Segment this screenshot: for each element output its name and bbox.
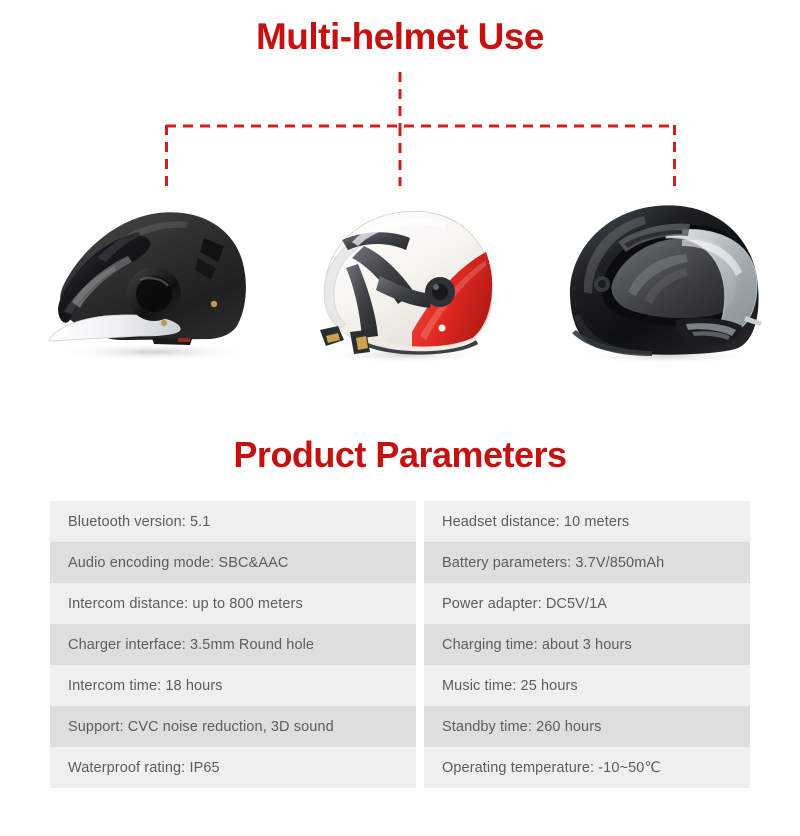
- page-title-multi-helmet: Multi-helmet Use: [0, 18, 800, 55]
- param-cell-left: Intercom time: 18 hours: [50, 665, 416, 706]
- table-row: Intercom time: 18 hours Music time: 25 h…: [50, 665, 750, 706]
- param-cell-left: Audio encoding mode: SBC&AAC: [50, 542, 416, 583]
- helmet-stud: [439, 325, 446, 332]
- helmet-pivot-highlight: [433, 284, 439, 290]
- column-divider: [416, 501, 424, 542]
- helmet-buckle-right-metal: [356, 336, 368, 350]
- helmet-image-open-face-white-red: [280, 180, 530, 380]
- helmet-rear-reflector: [178, 338, 190, 342]
- param-cell-right: Music time: 25 hours: [424, 665, 750, 706]
- helmet-screw-right: [211, 301, 217, 307]
- table-row: Support: CVC noise reduction, 3D sound S…: [50, 706, 750, 747]
- table-row: Audio encoding mode: SBC&AAC Battery par…: [50, 542, 750, 583]
- column-divider: [416, 665, 424, 706]
- helmet-image-full-face-black: [540, 180, 790, 380]
- column-divider: [416, 542, 424, 583]
- column-divider: [416, 747, 424, 788]
- param-cell-left: Bluetooth version: 5.1: [50, 501, 416, 542]
- table-row: Bluetooth version: 5.1 Headset distance:…: [50, 501, 750, 542]
- helmet-screw-left: [161, 320, 167, 326]
- helmet-visor-pivot-inner: [136, 276, 172, 312]
- param-cell-right: Battery parameters: 3.7V/850mAh: [424, 542, 750, 583]
- helmet-drop-shadow: [58, 343, 250, 361]
- product-parameters-table: Bluetooth version: 5.1 Headset distance:…: [50, 501, 750, 788]
- column-divider: [416, 624, 424, 665]
- param-cell-right: Charging time: about 3 hours: [424, 624, 750, 665]
- param-cell-left: Intercom distance: up to 800 meters: [50, 583, 416, 624]
- param-cell-right: Standby time: 260 hours: [424, 706, 750, 747]
- column-divider: [416, 583, 424, 624]
- helmet-image-row: [0, 180, 800, 380]
- param-cell-left: Waterproof rating: IP65: [50, 747, 416, 788]
- table-row: Intercom distance: up to 800 meters Powe…: [50, 583, 750, 624]
- column-divider: [416, 706, 424, 747]
- page-title-product-parameters: Product Parameters: [0, 437, 800, 473]
- param-cell-left: Support: CVC noise reduction, 3D sound: [50, 706, 416, 747]
- param-cell-right: Operating temperature: -10~50℃: [424, 747, 750, 788]
- param-cell-left: Charger interface: 3.5mm Round hole: [50, 624, 416, 665]
- table-row: Waterproof rating: IP65 Operating temper…: [50, 747, 750, 788]
- param-cell-right: Power adapter: DC5V/1A: [424, 583, 750, 624]
- helmet-image-open-face-black: [28, 180, 278, 380]
- helmet-visor-pivot-inner: [598, 280, 606, 288]
- table-row: Charger interface: 3.5mm Round hole Char…: [50, 624, 750, 665]
- param-cell-right: Headset distance: 10 meters: [424, 501, 750, 542]
